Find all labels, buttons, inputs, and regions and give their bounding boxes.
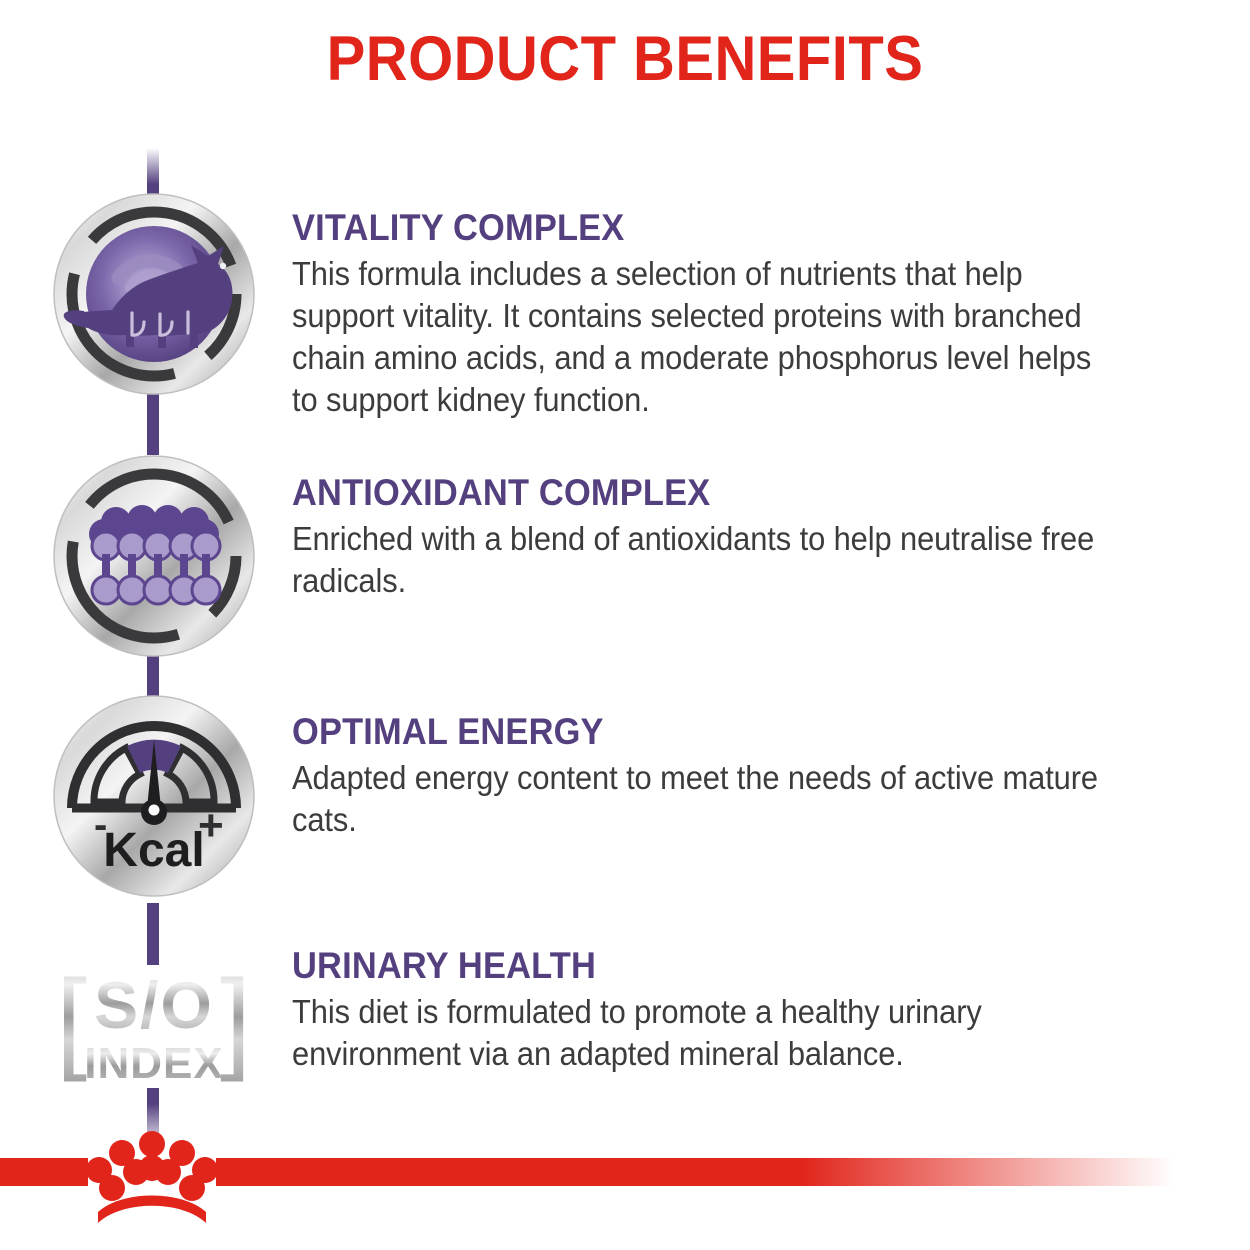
benefit-heading: VITALITY COMPLEX [292,208,1110,249]
benefit-heading: OPTIMAL ENERGY [292,712,1110,753]
benefit-copy: URINARY HEALTH This diet is formulated t… [292,946,1172,1075]
page-title: PRODUCT BENEFITS [50,26,1200,92]
cat-silhouette-icon [48,188,260,400]
so-bracket-right-glyph: ] [220,957,251,1082]
benefit-heading: URINARY HEALTH [292,946,1110,987]
benefit-body: This formula includes a selection of nut… [292,253,1115,422]
royal-canin-crown-logo [86,1128,218,1232]
so-index-icon: [ ] S/O INDEX [48,942,260,1154]
kcal-label: Kcal [103,824,204,877]
so-index-line1: S/O [94,968,214,1042]
benefit-body: This diet is formulated to promote a hea… [292,991,1115,1075]
connector-dash-1 [147,393,159,455]
benefit-copy: VITALITY COMPLEX This formula includes a… [292,208,1172,422]
benefit-body: Enriched with a blend of antioxidants to… [292,518,1115,602]
so-bracket-left-glyph: [ [56,957,87,1082]
benefit-body: Adapted energy content to meet the needs… [292,757,1115,841]
benefit-copy: OPTIMAL ENERGY Adapted energy content to… [292,712,1172,841]
benefit-heading: ANTIOXIDANT COMPLEX [292,473,1110,514]
antioxidant-molecules-icon [48,450,260,662]
kcal-gauge-icon: - + Kcal [48,690,260,902]
benefit-copy: ANTIOXIDANT COMPLEX Enriched with a blen… [292,473,1172,602]
so-index-line2: INDEX [84,1039,223,1088]
